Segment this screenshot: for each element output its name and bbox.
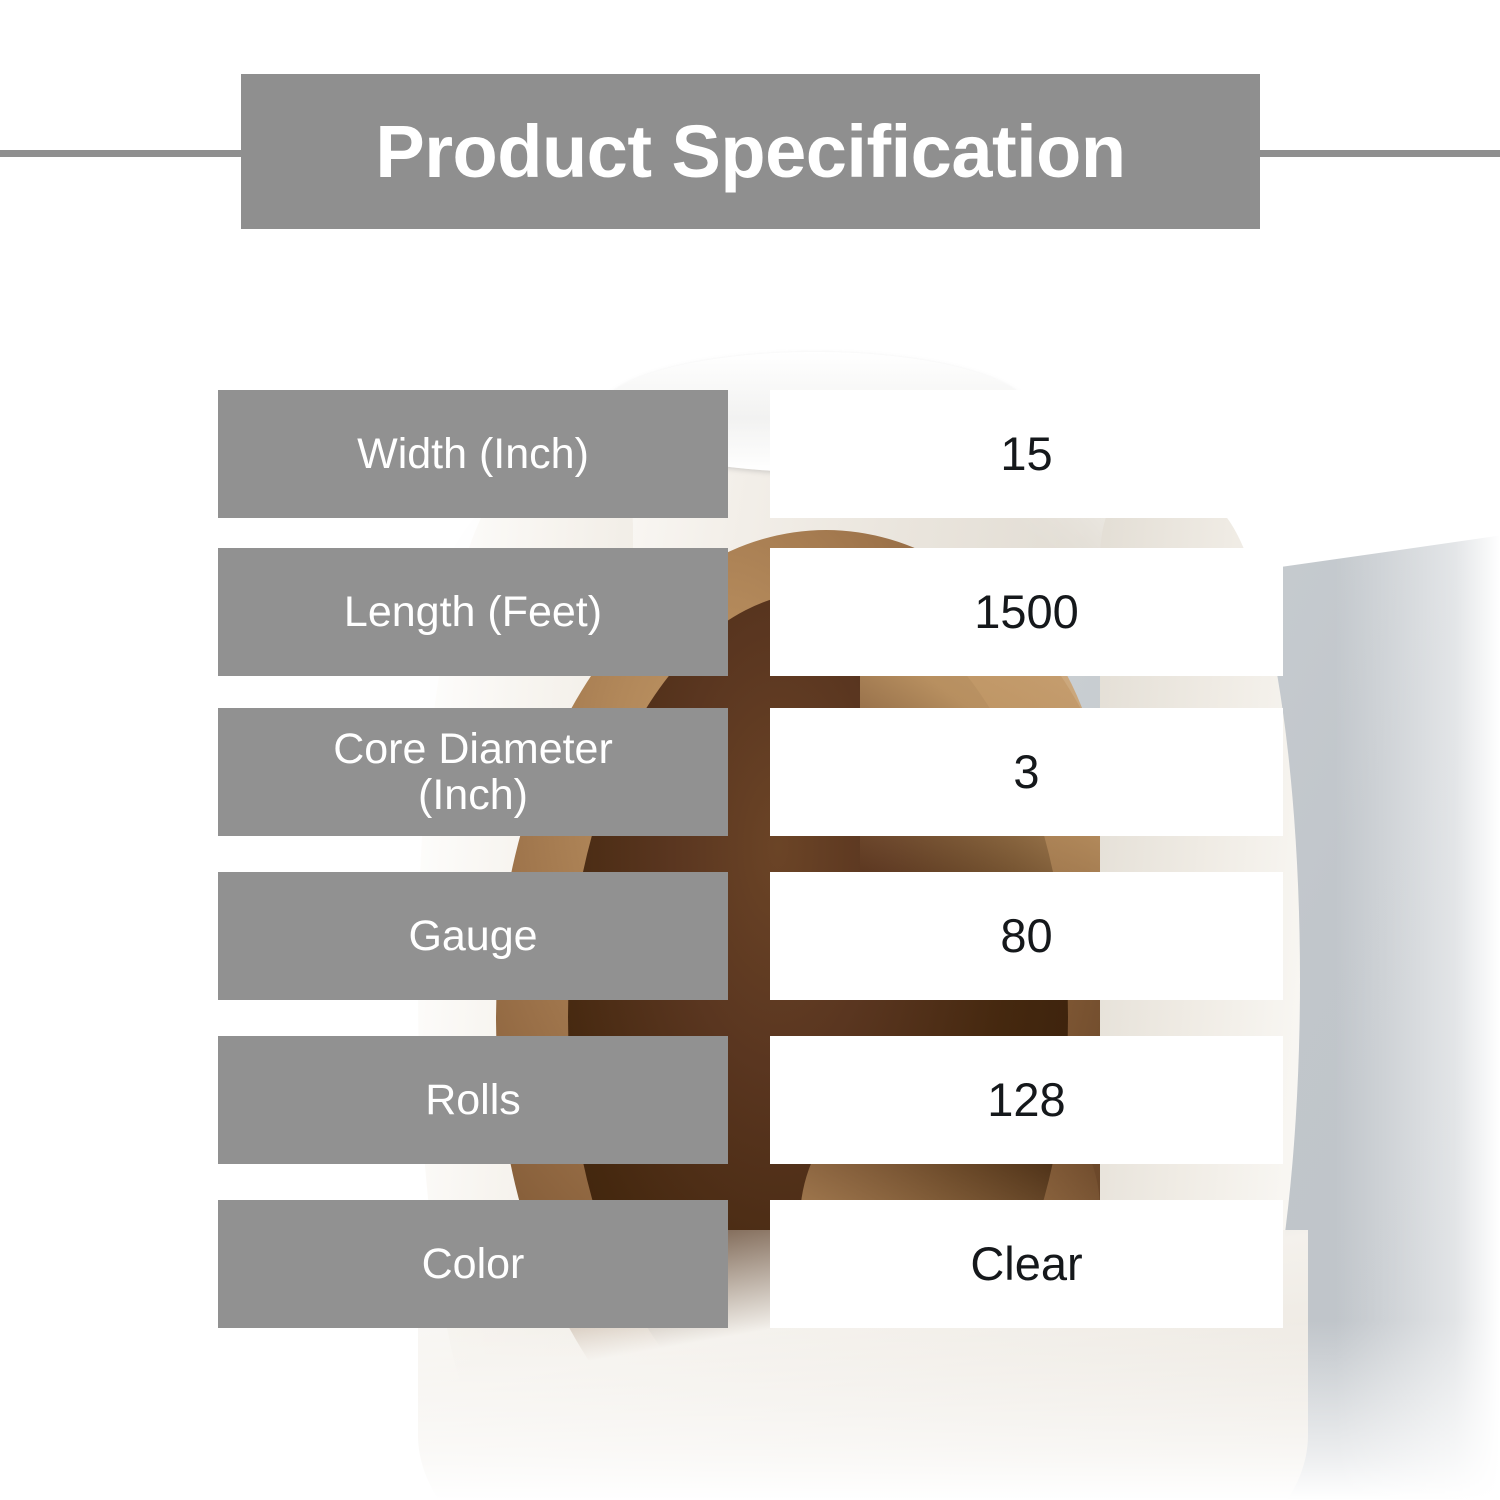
table-row: Gauge80 bbox=[218, 872, 1283, 1000]
spec-value-cell: 3 bbox=[770, 708, 1283, 836]
spec-label-cell: Gauge bbox=[218, 872, 728, 1000]
table-row: ColorClear bbox=[218, 1200, 1283, 1328]
spec-value-cell: 128 bbox=[770, 1036, 1283, 1164]
spec-label-cell: Length (Feet) bbox=[218, 548, 728, 676]
table-row: Rolls128 bbox=[218, 1036, 1283, 1164]
spec-value-cell: 80 bbox=[770, 872, 1283, 1000]
spec-label-cell: Core Diameter(Inch) bbox=[218, 708, 728, 836]
spec-table: Width (Inch)15Length (Feet)1500Core Diam… bbox=[0, 0, 1500, 1500]
table-row: Core Diameter(Inch)3 bbox=[218, 708, 1283, 836]
product-specification-page: Product Specification Width (Inch)15Leng… bbox=[0, 0, 1500, 1500]
table-row: Length (Feet)1500 bbox=[218, 548, 1283, 676]
spec-value-cell: 15 bbox=[770, 390, 1283, 518]
spec-value-cell: Clear bbox=[770, 1200, 1283, 1328]
spec-label-cell: Rolls bbox=[218, 1036, 728, 1164]
table-row: Width (Inch)15 bbox=[218, 390, 1283, 518]
spec-label-cell: Color bbox=[218, 1200, 728, 1328]
spec-label-cell: Width (Inch) bbox=[218, 390, 728, 518]
spec-value-cell: 1500 bbox=[770, 548, 1283, 676]
